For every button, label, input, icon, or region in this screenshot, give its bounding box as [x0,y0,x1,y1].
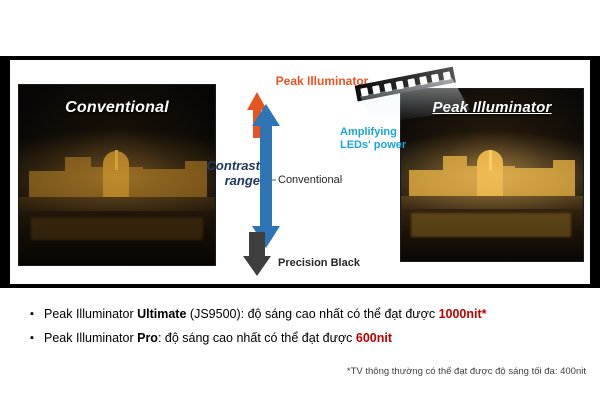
amplifying-line2: LEDs' power [340,139,406,151]
bullet-middle: (JS9500): độ sáng cao nhất có thể đạt đư… [186,307,438,321]
bullet-text: Peak Illuminator Pro: độ sáng cao nhất c… [44,330,392,347]
list-item: ▪ Peak Illuminator Pro: độ sáng cao nhất… [18,330,582,347]
list-item: ▪ Peak Illuminator Ultimate (JS9500): độ… [18,306,582,323]
bullet-text: Peak Illuminator Ultimate (JS9500): độ s… [44,306,487,323]
bullet-highlight: 600nit [356,331,392,345]
bullet-marker: ▪ [18,306,44,323]
bullet-marker: ▪ [18,330,44,347]
bullet-middle: : độ sáng cao nhất có thể đạt được [158,331,356,345]
bullet-bold: Ultimate [137,307,186,321]
bullet-bold: Pro [137,331,158,345]
slide-root: Conventional Peak Illuminator Peak Illum… [0,0,600,400]
amplifying-leds-label: Amplifying LEDs' power [340,126,412,152]
bullet-highlight: 1000nit* [439,307,487,321]
bullet-prefix: Peak Illuminator [44,307,137,321]
bullet-prefix: Peak Illuminator [44,331,137,345]
bullet-list: ▪ Peak Illuminator Ultimate (JS9500): độ… [18,306,582,354]
footnote-text: *TV thông thường có thể đạt được độ sáng… [347,366,586,377]
amplifying-line1: Amplifying [340,126,397,138]
